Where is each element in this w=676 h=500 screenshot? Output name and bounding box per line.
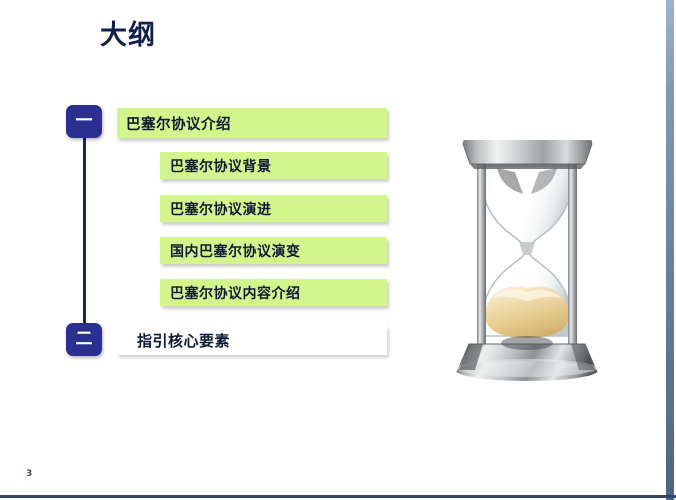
slide-canvas: 大纲 一 巴塞尔协议介绍 巴塞尔协议背景 巴塞尔协议演进 国内巴塞尔协议演变 巴… xyxy=(0,0,676,500)
tree-connector-line xyxy=(83,136,86,326)
outline-item-section-1-child-1[interactable]: 巴塞尔协议背景 xyxy=(160,152,387,179)
outline-item-section-1-child-4[interactable]: 巴塞尔协议内容介绍 xyxy=(160,279,387,306)
section-badge-1[interactable]: 一 xyxy=(66,105,102,138)
outline-item-section-1-child-3[interactable]: 国内巴塞尔协议演变 xyxy=(160,237,387,264)
hourglass-icon xyxy=(445,138,610,393)
outline-item-section-1-child-2[interactable]: 巴塞尔协议演进 xyxy=(160,195,387,222)
page-number: 3 xyxy=(26,469,32,479)
right-edge-strip xyxy=(666,0,674,500)
outline-tree: 一 巴塞尔协议介绍 巴塞尔协议背景 巴塞尔协议演进 国内巴塞尔协议演变 巴塞尔协… xyxy=(0,0,420,500)
bottom-rule xyxy=(0,495,676,498)
outline-item-section-2[interactable]: 指引核心要素 xyxy=(117,325,387,355)
section-badge-2[interactable]: 二 xyxy=(66,323,102,356)
outline-item-section-1[interactable]: 巴塞尔协议介绍 xyxy=(117,108,387,138)
